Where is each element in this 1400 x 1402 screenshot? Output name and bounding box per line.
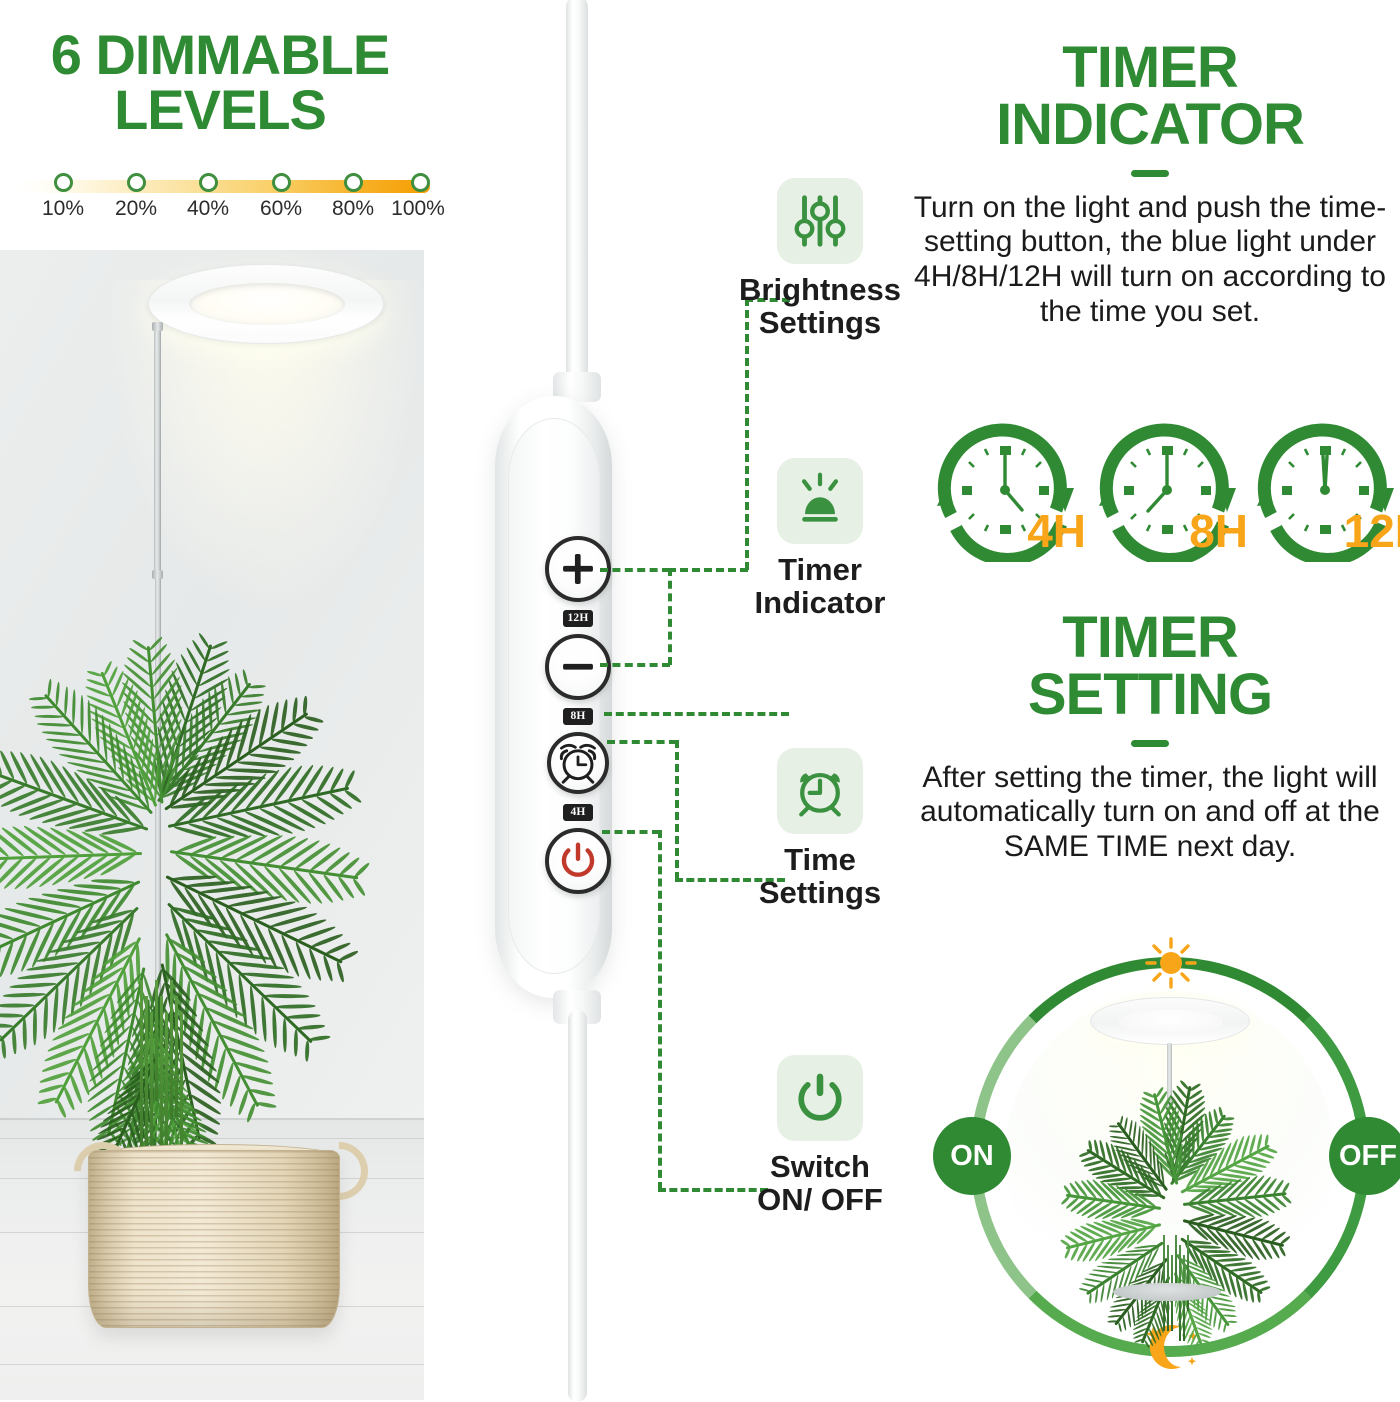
inline-controller: 12H 8H 4H bbox=[495, 396, 612, 998]
mini-plant bbox=[1025, 1085, 1325, 1315]
power-icon bbox=[549, 832, 607, 890]
power-cable-upper bbox=[566, 0, 588, 400]
lamp-ring-inner bbox=[189, 283, 345, 325]
timer-mark-12h: 12H bbox=[563, 610, 593, 627]
timer-indicator-title: TIMER INDICATOR bbox=[900, 40, 1400, 154]
lamp-pole-joint-top bbox=[152, 322, 163, 331]
headline-line-2: LEVELS bbox=[0, 83, 440, 138]
mini-lamp-inner bbox=[1119, 1009, 1223, 1035]
dimmer-gradient-bar bbox=[18, 180, 430, 193]
title-divider bbox=[1131, 170, 1169, 177]
plant-stem bbox=[150, 1012, 153, 1151]
dimmer-dot-1 bbox=[54, 173, 73, 192]
timer-setting-title: TIMER SETTING bbox=[900, 610, 1400, 724]
power-cable-lower bbox=[568, 1010, 587, 1402]
dimmer-label-20: 20% bbox=[100, 197, 172, 221]
feature-switch-on-off: Switch ON/ OFF bbox=[690, 1055, 950, 1217]
connector-alarm-v bbox=[675, 740, 679, 880]
off-badge: OFF bbox=[1329, 1117, 1400, 1195]
dimmable-levels-headline: 6 DIMMABLE LEVELS bbox=[0, 28, 440, 138]
alarm-clock-icon bbox=[777, 748, 863, 834]
connector-brightness-join bbox=[668, 568, 672, 665]
timer-indicator-block: TIMER INDICATOR Turn on the light and pu… bbox=[900, 40, 1400, 330]
dimmer-dot-4 bbox=[272, 173, 291, 192]
dimmer-dot-5 bbox=[344, 173, 363, 192]
alarm-clock-icon bbox=[551, 736, 605, 790]
dimmer-label-80: 80% bbox=[317, 197, 389, 221]
minus-button[interactable] bbox=[545, 634, 611, 700]
timer-setting-body: After setting the timer, the light will … bbox=[900, 761, 1400, 865]
product-photo bbox=[0, 250, 424, 1400]
mini-plant-pot bbox=[1113, 1283, 1221, 1301]
plant-stem bbox=[170, 980, 173, 1119]
infographic-root: 6 DIMMABLE LEVELS 10% 20% 40% 60% 80% 10… bbox=[0, 0, 1400, 1400]
minus-icon bbox=[549, 638, 607, 696]
dimmer-label-40: 40% bbox=[172, 197, 244, 221]
timer-mark-4h: 4H bbox=[563, 804, 593, 821]
dimmer-dot-2 bbox=[127, 173, 146, 192]
plant-stem bbox=[155, 980, 158, 1101]
clock-12h: 12H bbox=[1250, 412, 1400, 562]
on-off-cycle-diagram: ON OFF bbox=[945, 945, 1395, 1395]
connector-timer-indicator bbox=[604, 712, 789, 716]
connector-plus-h bbox=[600, 568, 670, 572]
timer-clocks-row: 4H bbox=[930, 412, 1400, 572]
sun-icon bbox=[1143, 935, 1199, 991]
dimmer-dot-6 bbox=[411, 173, 430, 192]
clock-label-8h: 8H bbox=[1189, 504, 1248, 558]
clock-4h: 4H bbox=[930, 412, 1080, 562]
plant-stem bbox=[175, 996, 178, 1117]
alarm-button[interactable] bbox=[547, 732, 609, 794]
power-button[interactable] bbox=[545, 828, 611, 894]
power-icon bbox=[777, 1055, 863, 1141]
clock-label-12h: 12H bbox=[1344, 504, 1400, 558]
connector-minus-h bbox=[600, 663, 670, 667]
feature-switch-label: Switch ON/ OFF bbox=[690, 1151, 950, 1217]
dimmer-scale: 10% 20% 40% 60% 80% 100% bbox=[0, 170, 440, 245]
woven-basket bbox=[88, 1150, 340, 1328]
connector-power-h bbox=[602, 830, 660, 834]
palm-frond bbox=[1183, 1192, 1287, 1206]
clock-label-4h: 4H bbox=[1027, 504, 1086, 558]
timer-indicator-body: Turn on the light and push the time-sett… bbox=[900, 191, 1400, 330]
plus-icon bbox=[549, 540, 607, 598]
areca-palm-plant bbox=[0, 550, 424, 1170]
title-divider-2 bbox=[1131, 740, 1169, 747]
palm-frond bbox=[1153, 1093, 1179, 1185]
dimmer-dot-3 bbox=[199, 173, 218, 192]
on-badge: ON bbox=[933, 1117, 1011, 1195]
plant-stem bbox=[145, 996, 148, 1153]
lamp-ring-head bbox=[148, 264, 384, 344]
timer-setting-block: TIMER SETTING After setting the timer, t… bbox=[900, 610, 1400, 865]
connector-power-v bbox=[658, 830, 662, 1190]
dimmer-label-60: 60% bbox=[245, 197, 317, 221]
headline-line-1: 6 DIMMABLE bbox=[0, 28, 440, 83]
dimmer-label-100: 100% bbox=[382, 197, 454, 221]
beacon-light-icon bbox=[777, 458, 863, 544]
lamp-pole-upper bbox=[154, 328, 161, 578]
mini-lamp-ring bbox=[1090, 997, 1250, 1045]
connector-alarm-h bbox=[607, 740, 677, 744]
plant-stem bbox=[140, 980, 143, 1155]
sliders-icon bbox=[777, 178, 863, 264]
feature-timer-indicator: Timer Indicator bbox=[690, 458, 950, 620]
left-column: 6 DIMMABLE LEVELS 10% 20% 40% 60% 80% 10… bbox=[0, 0, 440, 1400]
dimmer-label-10: 10% bbox=[27, 197, 99, 221]
clock-8h: 8H bbox=[1092, 412, 1242, 562]
timer-mark-8h: 8H bbox=[563, 708, 593, 725]
palm-frond bbox=[0, 852, 142, 861]
